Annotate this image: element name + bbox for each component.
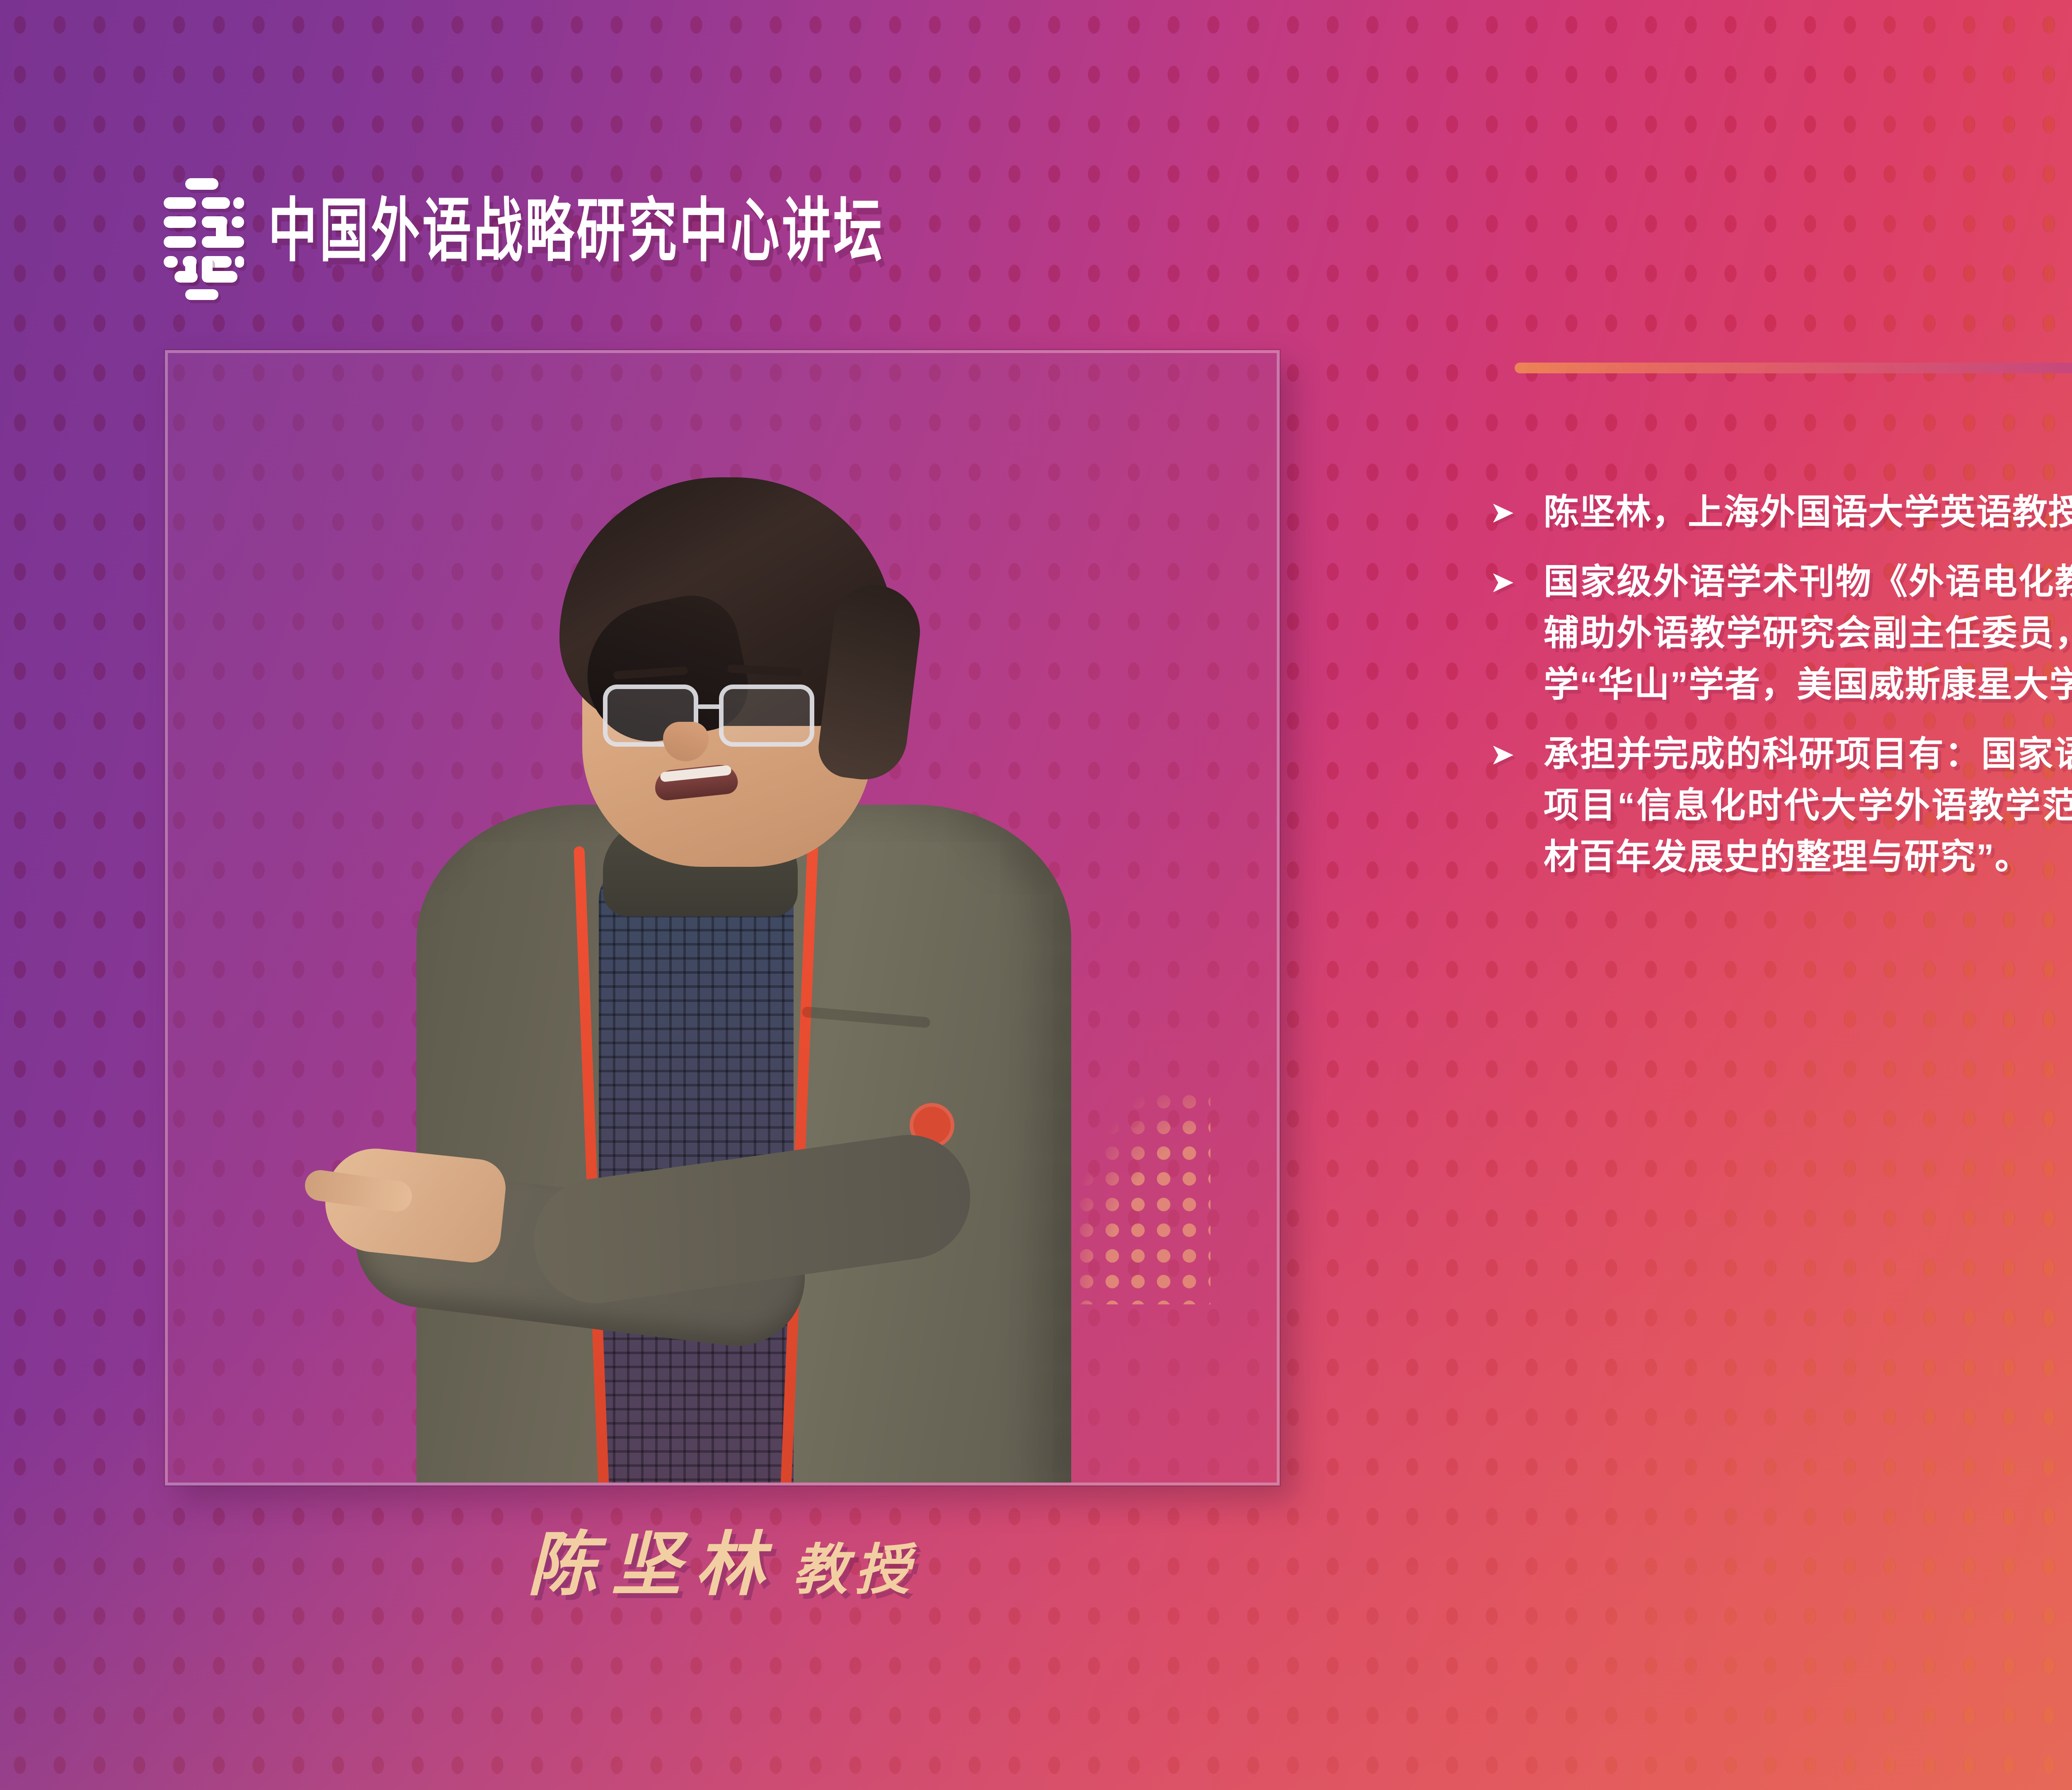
bullet-arrow-icon: ➤ bbox=[1490, 556, 1544, 608]
seal-glyph-logo-icon bbox=[164, 178, 242, 284]
speaker-bio-list: ➤ 陈坚林，上海外国语大学英语教授，博士生导师。 ➤ 国家级外语学术刊物《外语电… bbox=[1490, 487, 2072, 901]
bio-bullet-item: ➤ 国家级外语学术刊物《外语电化教学》副主编。中国外语战略研究中心兼职研究员，中… bbox=[1490, 556, 2072, 711]
bio-bullet-item: ➤ 陈坚林，上海外国语大学英语教授，博士生导师。 bbox=[1490, 487, 2072, 538]
slide-canvas: 中国外语战略研究中心讲坛 主讲人简介 bbox=[0, 0, 2072, 1790]
speaker-photo-frame bbox=[165, 350, 1280, 1485]
bullet-arrow-icon: ➤ bbox=[1490, 487, 1544, 538]
bio-bullet-text: 承担并完成的科研项目有：国家语委“十二五”重大科研项目“语言教育规划研究”；国家… bbox=[1544, 729, 2072, 883]
brand-header: 中国外语战略研究中心讲坛 bbox=[164, 178, 885, 284]
speaker-name-caption: 陈坚林教授 bbox=[165, 1508, 1280, 1609]
bio-bullet-text: 陈坚林，上海外国语大学英语教授，博士生导师。 bbox=[1544, 487, 2072, 538]
speaker-title: 教授 bbox=[793, 1538, 917, 1602]
speaker-portrait bbox=[168, 353, 1277, 1483]
bio-bullet-item: ➤ 承担并完成的科研项目有：国家语委“十二五”重大科研项目“语言教育规划研究”；… bbox=[1490, 729, 2072, 883]
bio-bullet-text: 国家级外语学术刊物《外语电化教学》副主编。中国外语战略研究中心兼职研究员，中国计… bbox=[1544, 556, 2072, 711]
brand-title: 中国外语战略研究中心讲坛 bbox=[268, 196, 885, 266]
bullet-arrow-icon: ➤ bbox=[1490, 729, 1544, 780]
decorative-dot-cluster bbox=[1074, 1089, 1210, 1304]
title-divider-rule bbox=[1515, 363, 2072, 373]
speaker-name: 陈坚林 bbox=[528, 1523, 779, 1605]
